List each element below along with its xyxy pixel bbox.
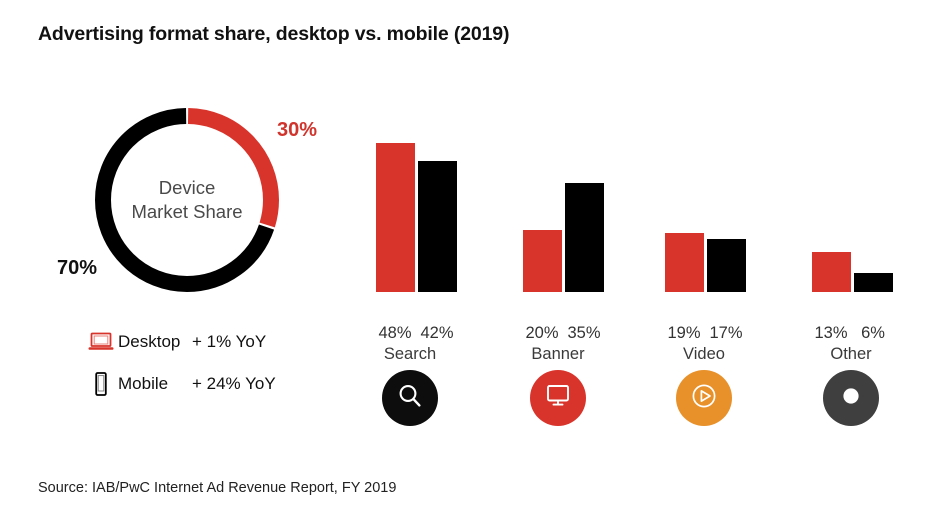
bar-banner-mobile (565, 183, 604, 292)
infographic-canvas: Advertising format share, desktop vs. mo… (0, 0, 931, 524)
bar-banner-desktop (523, 230, 562, 292)
ring-icon (840, 385, 862, 412)
magnifier-icon (395, 381, 425, 416)
bar-video-desktop (665, 233, 704, 292)
category-banner: Banner (508, 345, 608, 426)
category-video: Video (654, 345, 754, 426)
category-search: Search (360, 345, 460, 426)
bar-other-desktop (812, 252, 851, 293)
bar-value-search-desktop: 48% (374, 324, 416, 343)
bar-group-search: 48% 42% (368, 130, 468, 330)
category-label-banner: Banner (508, 345, 608, 364)
source-note: Source: IAB/PwC Internet Ad Revenue Repo… (38, 480, 396, 496)
format-share-bar-chart: 48% 42% 20% 35% 19% 17% (360, 130, 920, 330)
category-label-search: Search (360, 345, 460, 364)
category-label-video: Video (654, 345, 754, 364)
phone-icon (84, 372, 118, 396)
bar-search-mobile (418, 161, 457, 292)
bar-group-other: 13% 6% (804, 130, 904, 330)
page-title: Advertising format share, desktop vs. mo… (38, 23, 509, 46)
category-circle-other[interactable] (823, 370, 879, 426)
bar-value-video-mobile: 17% (705, 324, 747, 343)
bar-value-other-desktop: 13% (810, 324, 852, 343)
bar-group-banner: 20% 35% (515, 130, 615, 330)
category-circle-banner[interactable] (530, 370, 586, 426)
bar-value-video-desktop: 19% (663, 324, 705, 343)
legend-label-mobile: Mobile+ 24% YoY (118, 374, 276, 394)
monitor-icon (543, 382, 573, 415)
donut-value-mobile: 70% (57, 257, 97, 280)
donut-svg (95, 108, 279, 292)
category-circle-search[interactable] (382, 370, 438, 426)
bar-value-banner-mobile: 35% (563, 324, 605, 343)
bar-pair-search (368, 130, 468, 292)
bar-value-banner-desktop: 20% (521, 324, 563, 343)
legend-delta-desktop: + 1% YoY (192, 332, 266, 351)
legend-name-desktop: Desktop (118, 332, 192, 352)
bar-other-mobile (854, 273, 893, 292)
device-legend: Desktop+ 1% YoY Mobile+ 24% YoY (84, 326, 344, 410)
bar-pair-video (657, 130, 757, 292)
donut-value-desktop: 30% (277, 119, 317, 142)
category-other: Other (801, 345, 901, 426)
legend-item-desktop: Desktop+ 1% YoY (84, 326, 344, 358)
device-share-donut: Device Market Share (95, 108, 279, 292)
bar-value-other-mobile: 6% (852, 324, 894, 343)
legend-delta-mobile: + 24% YoY (192, 374, 276, 393)
legend-label-desktop: Desktop+ 1% YoY (118, 332, 266, 352)
bar-pair-banner (515, 130, 615, 292)
bar-pair-other (804, 130, 904, 292)
laptop-icon (84, 332, 118, 352)
bar-group-video: 19% 17% (657, 130, 757, 330)
category-label-other: Other (801, 345, 901, 364)
bar-video-mobile (707, 239, 746, 292)
legend-item-mobile: Mobile+ 24% YoY (84, 368, 344, 400)
category-circle-video[interactable] (676, 370, 732, 426)
bar-value-search-mobile: 42% (416, 324, 458, 343)
category-icon-row: Search Banner (360, 345, 920, 455)
play-icon (689, 381, 719, 416)
bar-search-desktop (376, 143, 415, 293)
legend-name-mobile: Mobile (118, 374, 192, 394)
